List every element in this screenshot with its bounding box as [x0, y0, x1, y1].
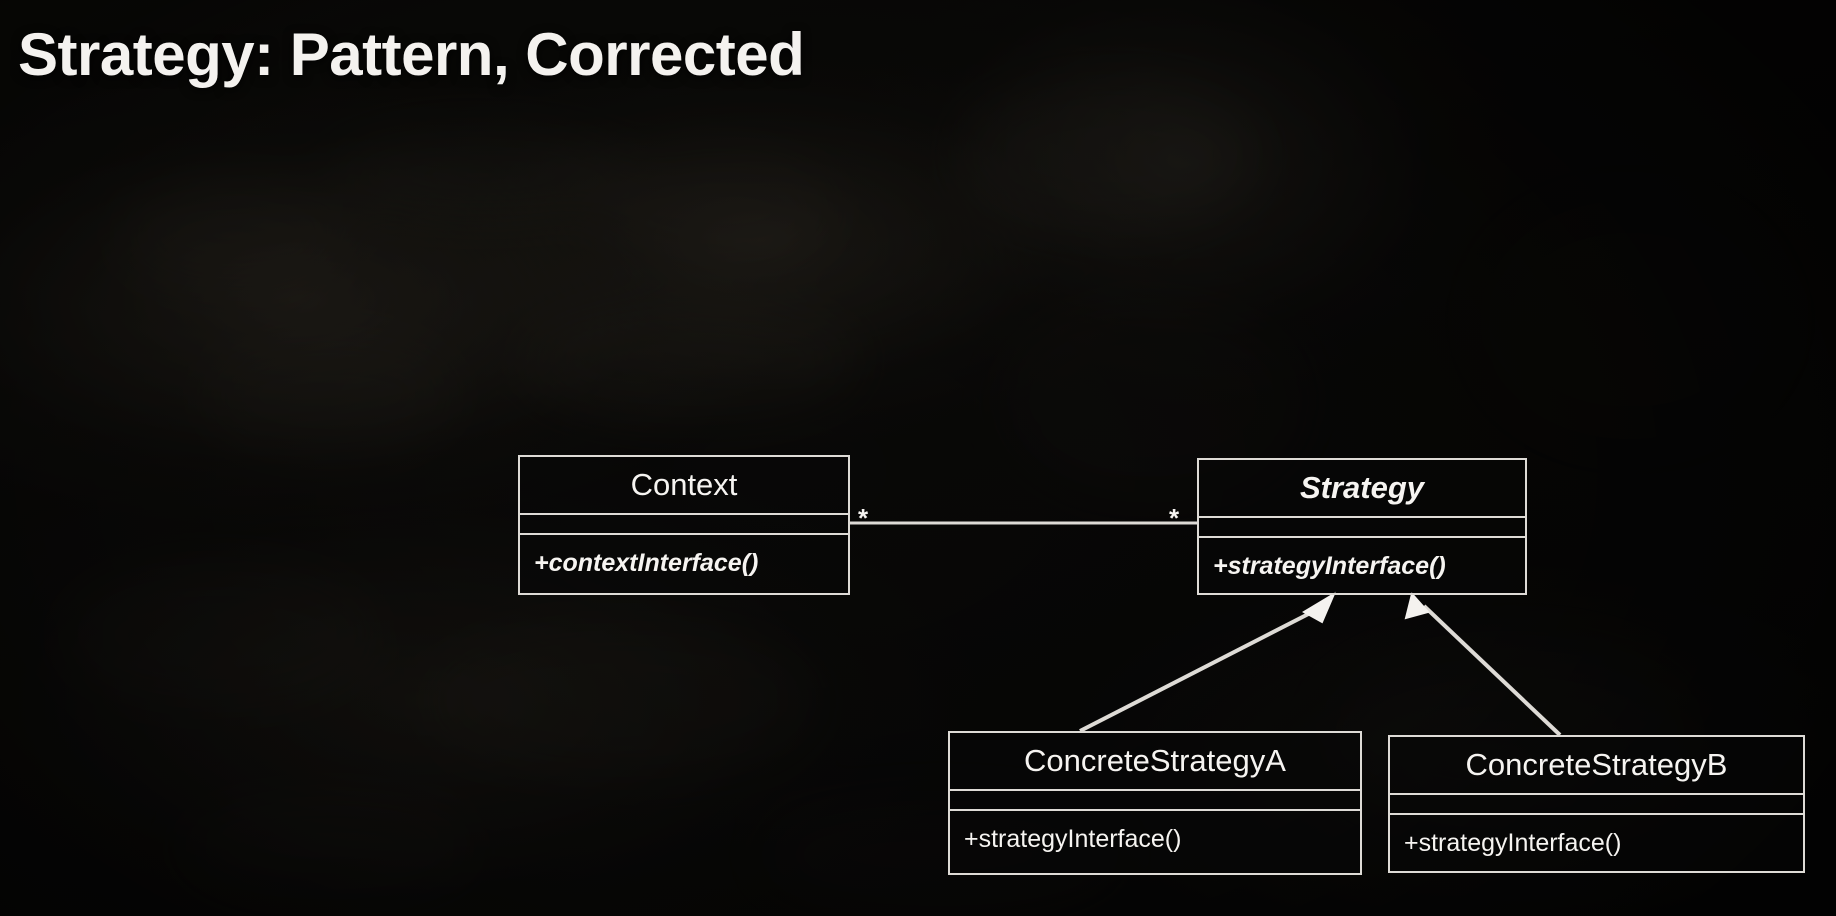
uml-attributes-compartment-concrete-strategy-a: [950, 789, 1360, 809]
uml-class-name-concrete-strategy-b: ConcreteStrategyB: [1390, 737, 1803, 793]
uml-class-name-strategy: Strategy: [1199, 460, 1525, 516]
uml-class-concrete-strategy-b[interactable]: ConcreteStrategyB +strategyInterface(): [1388, 735, 1805, 873]
uml-class-concrete-strategy-a[interactable]: ConcreteStrategyA +strategyInterface(): [948, 731, 1362, 875]
uml-operation-strategy-interface: +strategyInterface(): [1199, 536, 1525, 593]
uml-class-diagram: Context +contextInterface() Strategy +st…: [0, 0, 1836, 916]
generalization-line-a: [1080, 606, 1324, 731]
uml-class-strategy[interactable]: Strategy +strategyInterface(): [1197, 458, 1527, 595]
multiplicity-label-target: *: [1169, 505, 1179, 531]
uml-attributes-compartment-concrete-strategy-b: [1390, 793, 1803, 813]
uml-operation-concrete-strategy-a-interface: +strategyInterface(): [950, 809, 1360, 873]
uml-operation-concrete-strategy-b-interface: +strategyInterface(): [1390, 813, 1803, 871]
uml-class-context[interactable]: Context +contextInterface(): [518, 455, 850, 595]
uml-attributes-compartment-context: [520, 513, 848, 533]
uml-class-name-concrete-strategy-a: ConcreteStrategyA: [950, 733, 1360, 789]
generalization-arrowhead-a: [1304, 594, 1334, 622]
multiplicity-label-source: *: [858, 505, 868, 531]
generalization-line-b: [1424, 606, 1560, 735]
uml-class-name-context: Context: [520, 457, 848, 513]
uml-attributes-compartment-strategy: [1199, 516, 1525, 536]
uml-operation-context-interface: +contextInterface(): [520, 533, 848, 593]
slide-canvas: Strategy: Pattern, Corrected Context +co…: [0, 0, 1836, 916]
